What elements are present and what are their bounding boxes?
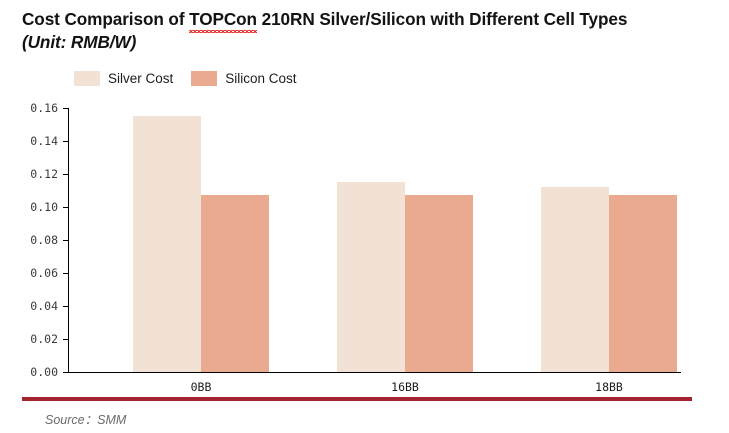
- y-axis-line: [68, 108, 69, 372]
- x-axis-tick-label: 0BB: [191, 380, 212, 394]
- y-axis-tick: [63, 372, 68, 373]
- source-caption: Source：SMM: [45, 409, 126, 428]
- y-axis-tick-label: 0.06: [6, 266, 58, 280]
- y-axis-tick-label: 0.00: [6, 365, 58, 379]
- title-text-pre: Cost Comparison of: [22, 9, 189, 29]
- chart-title-line-2: (Unit: RMB/W): [22, 31, 712, 54]
- y-axis-tick-label: 0.14: [6, 134, 58, 148]
- y-axis-tick: [63, 207, 68, 208]
- y-axis-tick-label: 0.08: [6, 233, 58, 247]
- x-axis-tick-label: 18BB: [595, 380, 623, 394]
- y-axis-tick: [63, 174, 68, 175]
- y-axis-tick: [63, 108, 68, 109]
- legend-label: Silver Cost: [108, 71, 173, 86]
- chart-title: Cost Comparison of TOPCon 210RN Silver/S…: [22, 8, 712, 54]
- y-axis-tick-label: 0.02: [6, 332, 58, 346]
- y-axis-tick: [63, 240, 68, 241]
- bar-silicon-cost-16bb[interactable]: [405, 195, 473, 372]
- spellcheck-underlined-word: TOPCon: [189, 8, 257, 31]
- legend-swatch-icon: [191, 71, 217, 86]
- bar-silicon-cost-18bb[interactable]: [609, 195, 677, 372]
- chart-page: Cost Comparison of TOPCon 210RN Silver/S…: [0, 0, 729, 433]
- y-axis-tick: [63, 273, 68, 274]
- y-axis-tick-label: 0.04: [6, 299, 58, 313]
- bar-silver-cost-16bb[interactable]: [337, 182, 405, 372]
- y-axis-tick: [63, 339, 68, 340]
- x-axis-tick-label: 16BB: [391, 380, 419, 394]
- y-axis-tick-label: 0.16: [6, 101, 58, 115]
- legend-item-silver-cost[interactable]: Silver Cost: [74, 71, 173, 86]
- y-axis-tick-label: 0.12: [6, 167, 58, 181]
- legend-item-silicon-cost[interactable]: Silicon Cost: [191, 71, 296, 86]
- title-text-post: 210RN Silver/Silicon with Different Cell…: [257, 9, 627, 29]
- plot-area: 0.000.020.040.060.080.100.120.140.16 0BB…: [68, 108, 680, 372]
- chart-title-line-1: Cost Comparison of TOPCon 210RN Silver/S…: [22, 8, 712, 31]
- bar-silver-cost-0bb[interactable]: [133, 116, 201, 372]
- y-axis-tick-label: 0.10: [6, 200, 58, 214]
- legend-label: Silicon Cost: [225, 71, 296, 86]
- x-axis-line: [68, 372, 681, 373]
- y-axis-tick: [63, 141, 68, 142]
- legend-swatch-icon: [74, 71, 100, 86]
- bar-silicon-cost-0bb[interactable]: [201, 195, 269, 372]
- chart-legend: Silver Cost Silicon Cost: [74, 71, 297, 86]
- bar-silver-cost-18bb[interactable]: [541, 187, 609, 372]
- footer-rule: [22, 397, 692, 401]
- y-axis-tick: [63, 306, 68, 307]
